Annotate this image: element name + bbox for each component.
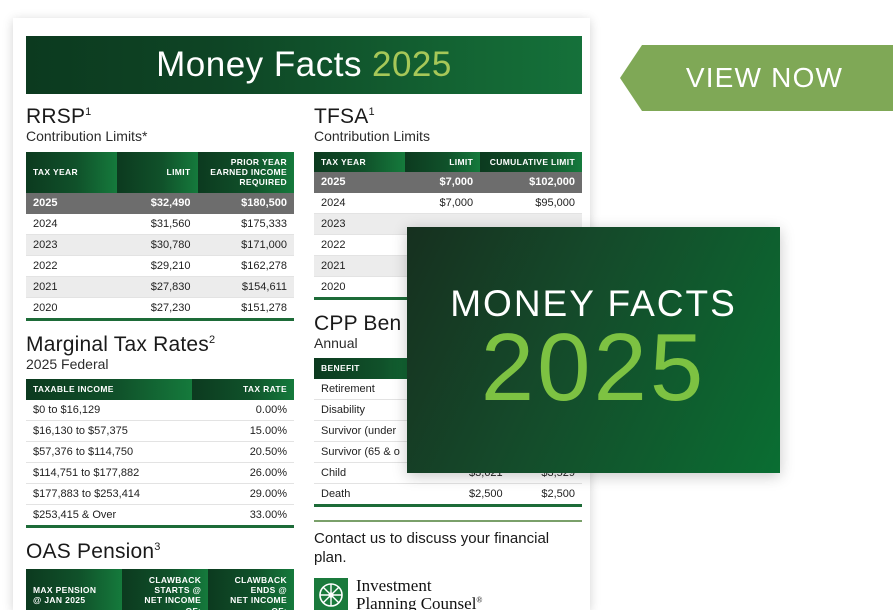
cell-income-range: $57,376 to $114,750 <box>26 441 192 462</box>
rrsp-superscript: 1 <box>85 106 91 118</box>
oas-col-clawback-start-line2: STARTS @ <box>129 585 201 595</box>
cell-limit: $7,000 <box>405 192 480 213</box>
cell-amount-a: $2,500 <box>437 483 509 504</box>
cell-limit: $27,830 <box>117 276 197 297</box>
cell-income: $180,500 <box>198 193 295 214</box>
cell-year: 2023 <box>314 213 405 234</box>
oas-col-clawback-start: CLAWBACK STARTS @ NET INCOME OF: <box>122 569 208 610</box>
table-row: 2022 $29,210 $162,278 <box>26 255 294 276</box>
cell-amount-b: $2,500 <box>510 483 582 504</box>
rrsp-col-limit: LIMIT <box>117 152 197 193</box>
oas-title-text: OAS Pension <box>26 540 154 563</box>
cell-cumulative: $95,000 <box>480 192 582 213</box>
marginal-tax-superscript: 2 <box>209 334 215 346</box>
cell-limit: $30,780 <box>117 234 197 255</box>
section-rrsp: RRSP1 Contribution Limits* TAX YEAR LIMI… <box>26 106 294 321</box>
oas-superscript: 3 <box>154 541 160 553</box>
cell-year: 2021 <box>26 276 117 297</box>
cell-income-range: $16,130 to $57,375 <box>26 420 192 441</box>
card-header: Money Facts 2025 <box>26 36 582 94</box>
marginal-tax-table: TAXABLE INCOME TAX RATE $0 to $16,129 0.… <box>26 379 294 524</box>
card-header-title: Money Facts <box>156 45 362 85</box>
oas-table: MAX PENSION @ JAN 2025 CLAWBACK STARTS @… <box>26 569 294 610</box>
company-logo-wordmark: Investment Planning Counsel® <box>356 577 483 610</box>
table-row: 2023 $30,780 $171,000 <box>26 234 294 255</box>
cell-income: $175,333 <box>198 213 295 234</box>
cell-year: 2022 <box>314 234 405 255</box>
cell-rate: 15.00% <box>192 420 294 441</box>
marginal-tax-title-text: Marginal Tax Rates <box>26 333 209 356</box>
cell-year: 2020 <box>26 297 117 318</box>
cell-income: $162,278 <box>198 255 295 276</box>
oas-col-max-pension: MAX PENSION @ JAN 2025 <box>26 569 122 610</box>
cell-income: $151,278 <box>198 297 295 318</box>
tfsa-title: TFSA1 <box>314 106 582 128</box>
cell-rate: 26.00% <box>192 462 294 483</box>
oas-col-clawback-end-line2: ENDS @ <box>215 585 287 595</box>
mtr-col-taxable-income: TAXABLE INCOME <box>26 379 192 399</box>
section-marginal-tax-rates: Marginal Tax Rates2 2025 Federal TAXABLE… <box>26 334 294 528</box>
marginal-tax-title: Marginal Tax Rates2 <box>26 334 294 356</box>
table-header-row: TAXABLE INCOME TAX RATE <box>26 379 294 399</box>
oas-col-clawback-end-line3: NET INCOME OF: <box>215 595 287 610</box>
cell-income: $154,611 <box>198 276 295 297</box>
cell-year: 2022 <box>26 255 117 276</box>
table-row: 2024 $7,000 $95,000 <box>314 192 582 213</box>
card-header-year: 2025 <box>372 45 452 85</box>
rrsp-subtitle: Contribution Limits* <box>26 128 294 146</box>
tfsa-title-text: TFSA <box>314 105 368 128</box>
cpp-table-footer-rule <box>314 504 582 507</box>
table-row: Death $2,500 $2,500 <box>314 483 582 504</box>
cell-cumulative: $102,000 <box>480 172 582 193</box>
company-logo: Investment Planning Counsel® <box>314 577 582 610</box>
tfsa-col-limit: LIMIT <box>405 152 480 172</box>
tfsa-subtitle: Contribution Limits <box>314 128 582 146</box>
table-header-row: TAX YEAR LIMIT CUMULATIVE LIMIT <box>314 152 582 172</box>
table-row: 2025 $32,490 $180,500 <box>26 193 294 214</box>
table-row: $177,883 to $253,414 29.00% <box>26 483 294 504</box>
table-row: $114,751 to $177,882 26.00% <box>26 462 294 483</box>
rrsp-table-footer-rule <box>26 318 294 321</box>
cell-rate: 33.00% <box>192 504 294 525</box>
oas-col-max-pension-line2: @ JAN 2025 <box>33 595 115 605</box>
oas-col-clawback-end: CLAWBACK ENDS @ NET INCOME OF: <box>208 569 294 610</box>
table-row: $0 to $16,129 0.00% <box>26 400 294 421</box>
table-row: 2025 $7,000 $102,000 <box>314 172 582 193</box>
cell-rate: 29.00% <box>192 483 294 504</box>
oas-col-clawback-start-line1: CLAWBACK <box>129 575 201 585</box>
cell-rate: 20.50% <box>192 441 294 462</box>
cell-year: 2024 <box>314 192 405 213</box>
rrsp-title: RRSP1 <box>26 106 294 128</box>
mtr-col-tax-rate: TAX RATE <box>192 379 294 399</box>
section-oas-pension: OAS Pension3 MAX PENSION @ JAN 2025 CLAW… <box>26 541 294 610</box>
screenshot-stage: Money Facts 2025 RRSP1 Contribution Limi… <box>0 0 893 610</box>
table-header-row: TAX YEAR LIMIT PRIOR YEAR EARNED INCOME … <box>26 152 294 193</box>
company-logo-line2-wrap: Planning Counsel® <box>356 595 483 610</box>
tfsa-col-tax-year: TAX YEAR <box>314 152 405 172</box>
oas-title: OAS Pension3 <box>26 541 294 563</box>
cell-year: 2024 <box>26 213 117 234</box>
oas-col-max-pension-line1: MAX PENSION <box>33 585 115 595</box>
registered-mark: ® <box>476 595 482 604</box>
rrsp-title-text: RRSP <box>26 105 85 128</box>
cell-year: 2020 <box>314 276 405 297</box>
table-header-row: MAX PENSION @ JAN 2025 CLAWBACK STARTS @… <box>26 569 294 610</box>
table-row: 2020 $27,230 $151,278 <box>26 297 294 318</box>
cell-limit: $7,000 <box>405 172 480 193</box>
contact-text: Contact us to discuss your financial pla… <box>314 530 582 568</box>
cell-year: 2025 <box>26 193 117 214</box>
cell-year: 2025 <box>314 172 405 193</box>
table-row: 2024 $31,560 $175,333 <box>26 213 294 234</box>
cell-year: 2021 <box>314 255 405 276</box>
cell-benefit: Death <box>314 483 437 504</box>
table-row: $16,130 to $57,375 15.00% <box>26 420 294 441</box>
cell-limit: $27,230 <box>117 297 197 318</box>
cell-income-range: $114,751 to $177,882 <box>26 462 192 483</box>
company-logo-line2: Planning Counsel <box>356 594 476 610</box>
marginal-tax-subtitle: 2025 Federal <box>26 356 294 374</box>
oas-col-clawback-end-line1: CLAWBACK <box>215 575 287 585</box>
cell-year: 2023 <box>26 234 117 255</box>
money-facts-overlay-panel[interactable]: MONEY FACTS 2025 <box>407 227 780 473</box>
view-now-button[interactable]: VIEW NOW <box>620 45 893 111</box>
cell-income-range: $0 to $16,129 <box>26 400 192 421</box>
rrsp-col-tax-year: TAX YEAR <box>26 152 117 193</box>
oas-col-clawback-start-line3: NET INCOME OF: <box>129 595 201 610</box>
rrsp-table: TAX YEAR LIMIT PRIOR YEAR EARNED INCOME … <box>26 152 294 318</box>
cell-rate: 0.00% <box>192 400 294 421</box>
overlay-year: 2025 <box>481 320 707 416</box>
cell-limit: $29,210 <box>117 255 197 276</box>
company-logo-line1: Investment <box>356 577 483 595</box>
tfsa-col-cumulative-limit: CUMULATIVE LIMIT <box>480 152 582 172</box>
cell-income: $171,000 <box>198 234 295 255</box>
cell-income-range: $177,883 to $253,414 <box>26 483 192 504</box>
rrsp-col-prior-income: PRIOR YEAR EARNED INCOME REQUIRED <box>198 152 295 193</box>
table-row: $253,415 & Over 33.00% <box>26 504 294 525</box>
cell-income-range: $253,415 & Over <box>26 504 192 525</box>
marginal-tax-table-footer-rule <box>26 525 294 528</box>
cell-limit: $32,490 <box>117 193 197 214</box>
table-row: $57,376 to $114,750 20.50% <box>26 441 294 462</box>
compass-wheel-icon <box>314 578 348 610</box>
tfsa-superscript: 1 <box>368 106 374 118</box>
contact-divider <box>314 520 582 522</box>
left-column: RRSP1 Contribution Limits* TAX YEAR LIMI… <box>26 106 294 610</box>
table-row: 2021 $27,830 $154,611 <box>26 276 294 297</box>
view-now-label: VIEW NOW <box>670 62 843 94</box>
cell-limit: $31,560 <box>117 213 197 234</box>
section-contact: Contact us to discuss your financial pla… <box>314 520 582 610</box>
